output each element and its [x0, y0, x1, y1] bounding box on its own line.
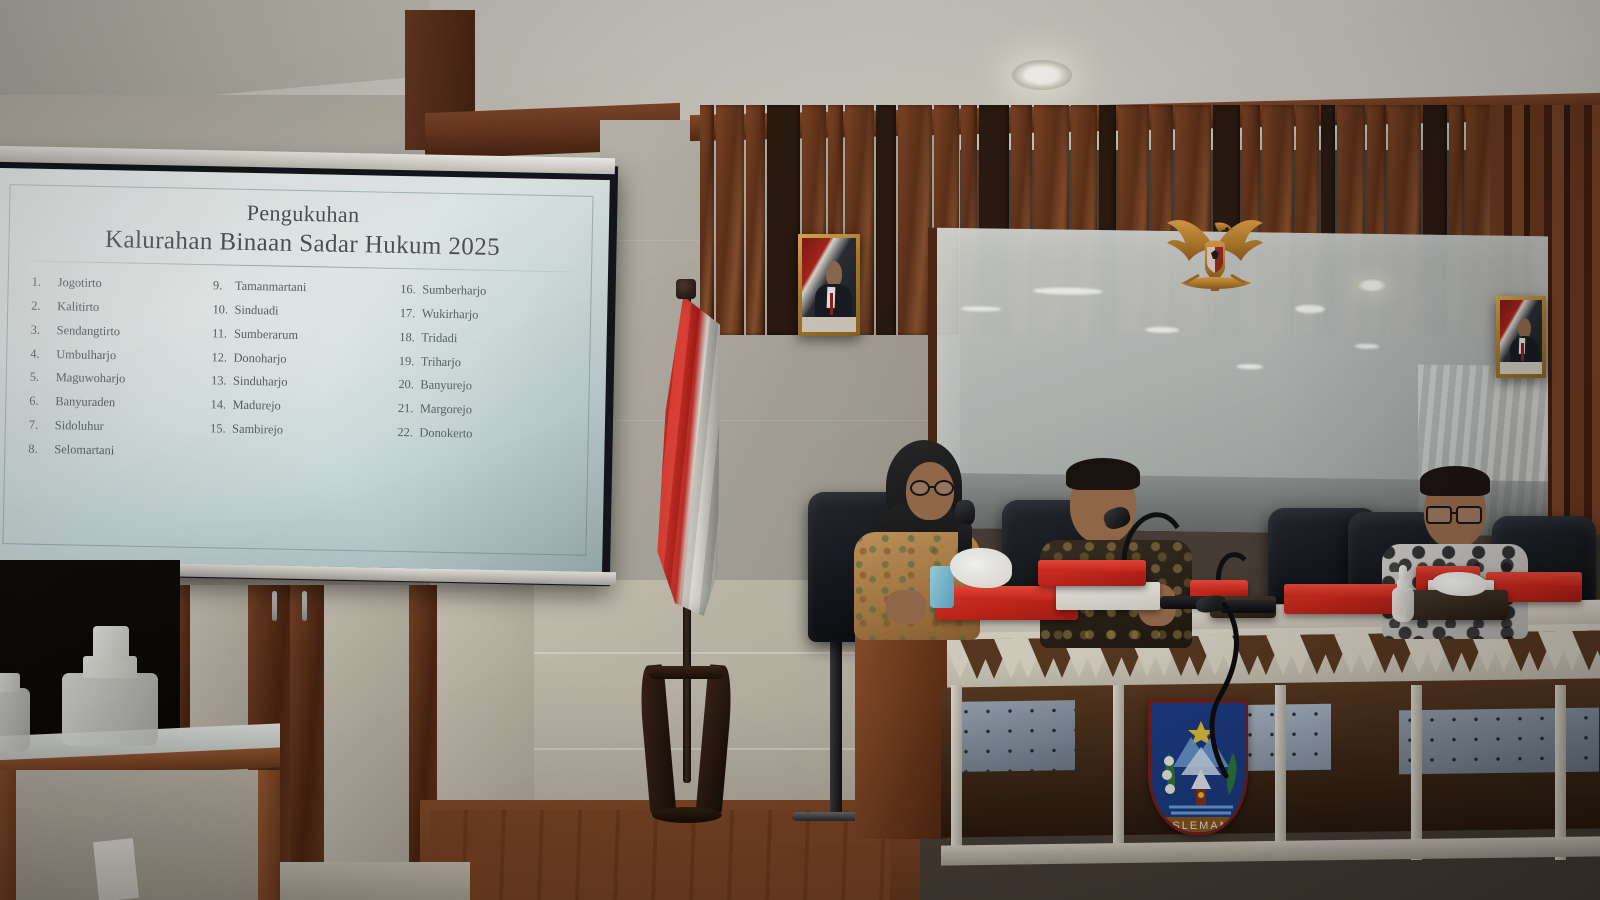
- eyeglasses-right-lens: [934, 480, 954, 496]
- slide-item-name: Madurejo: [232, 398, 280, 413]
- eyeglasses-bridge: [1451, 512, 1458, 514]
- slide-list-item: 12.Donoharjo: [211, 346, 389, 373]
- wood-slat: [898, 105, 932, 335]
- slide-list-item: 4.Umbulharjo: [24, 342, 202, 369]
- slide-title: Pengukuhan Kalurahan Binaan Sadar Hukum …: [26, 194, 579, 264]
- slide-item-name: Tamanmartani: [235, 279, 307, 294]
- slide-item-number: 21.: [398, 397, 420, 421]
- snack-box-white-1[interactable]: [1056, 582, 1160, 610]
- slide-item-number: 16.: [400, 278, 422, 302]
- slide-item-number: 22.: [397, 421, 419, 445]
- wood-slat: [746, 105, 765, 335]
- slide-list-item: 20.Banyurejo: [398, 373, 576, 400]
- slide-item-name: Donokerto: [419, 426, 472, 441]
- dais-side-panel: [855, 629, 947, 839]
- portrait-image-vice-president: [1500, 300, 1542, 374]
- slide-item-name: Donoharjo: [233, 350, 286, 365]
- hair: [1066, 458, 1140, 490]
- dais-leg-4: [1411, 685, 1422, 860]
- slide-item-name: Sendangtirto: [49, 323, 121, 338]
- slide-item-name: Sumberarum: [234, 327, 298, 342]
- slide-item-number: 12.: [211, 346, 233, 370]
- flag-stand-crossbar: [648, 666, 724, 679]
- ceiling-downlight: [1012, 60, 1072, 90]
- slide-column-2: 9.Tamanmartani10.Sinduadi11.Sumberarum12…: [209, 274, 390, 468]
- meeting-hall-photo: Pengukuhan Kalurahan Binaan Sadar Hukum …: [0, 0, 1600, 900]
- slide-item-name: Wukirharjo: [422, 306, 479, 321]
- slide-list-item: 16.Sumberharjo: [400, 278, 578, 305]
- slide-item-name: Margorejo: [420, 402, 472, 417]
- portrait-image-president: [802, 238, 856, 332]
- slide-item-name: Triharjo: [421, 354, 461, 369]
- door-leaf-right[interactable]: [290, 585, 324, 875]
- flag-stand: [640, 640, 732, 815]
- slide-list-item: 22.Donokerto: [397, 421, 575, 448]
- slide-list-item: 17.Wukirharjo: [400, 302, 578, 329]
- portrait-caption: [1500, 362, 1542, 374]
- slide-list-item: 9.Tamanmartani: [213, 274, 391, 301]
- slide-item-name: Maguwoharjo: [48, 370, 126, 386]
- slide-columns: 1.Jogotirto2.Kalitirto3.Sendangtirto4.Um…: [22, 271, 578, 473]
- hand-sanitizer-foreground[interactable]: [62, 628, 158, 746]
- eyeglasses-right-lens: [1456, 506, 1482, 524]
- dais-leg-2: [1113, 685, 1124, 860]
- stage-floor-planks: [430, 810, 890, 900]
- slide-item-number: 19.: [399, 350, 421, 374]
- portrait-caption: [802, 317, 856, 332]
- foreground-desk-frame-right: [258, 770, 280, 900]
- portrait-tie: [830, 293, 834, 316]
- slide-list-item: 10.Sinduadi: [212, 298, 390, 325]
- hand-sanitizer-right[interactable]: [1392, 566, 1414, 622]
- portrait-tie: [1521, 343, 1524, 361]
- vice-president-portrait: [1496, 296, 1546, 378]
- slide-item-number: 7.: [23, 414, 47, 438]
- hand-left: [886, 590, 926, 624]
- slide-item-name: Sumberharjo: [422, 283, 486, 298]
- reflected-downlight: [1356, 278, 1388, 293]
- foreground-desk: [0, 730, 280, 900]
- foreground-paper: [93, 838, 139, 900]
- slide-list-item: 15.Sambirejo: [210, 417, 388, 444]
- slide-list-item: 6.Banyuraden: [23, 390, 201, 417]
- slide-item-name: Jogotirto: [50, 275, 102, 290]
- slide-list-item: 19.Triharjo: [399, 350, 577, 377]
- portrait-head: [826, 261, 842, 287]
- slide-content: Pengukuhan Kalurahan Binaan Sadar Hukum …: [21, 194, 580, 549]
- shelf-perforated-panel-1: [955, 700, 1075, 772]
- slide-item-number: 17.: [400, 302, 422, 326]
- dais-leg-5: [1555, 685, 1566, 860]
- slide-list-item: 11.Sumberarum: [212, 322, 390, 349]
- foreground-desk-front: [0, 770, 280, 900]
- slide-list-item: 13.Sinduharjo: [211, 370, 389, 397]
- slide-item-name: Umbulharjo: [48, 347, 116, 362]
- slide-surface: Pengukuhan Kalurahan Binaan Sadar Hukum …: [0, 168, 610, 572]
- foreground-desk-frame-left: [0, 770, 16, 900]
- wood-slat: [876, 105, 896, 335]
- snack-box-red-4[interactable]: [1284, 584, 1404, 614]
- flag-stand-base: [652, 807, 722, 823]
- slide-list-item: 5.Maguwoharjo: [24, 366, 202, 393]
- slide-item-number: 1.: [25, 271, 49, 295]
- slide-item-number: 5.: [24, 366, 48, 390]
- slide-item-name: Tridadi: [421, 330, 457, 345]
- door-handle-right[interactable]: [302, 591, 307, 621]
- garuda-pancasila-emblem: [1155, 205, 1275, 305]
- slide-item-number: 2.: [25, 295, 49, 319]
- slide-item-number: 10.: [212, 298, 234, 322]
- slide-list-item: 3.Sendangtirto: [25, 318, 203, 345]
- president-portrait: [798, 234, 860, 336]
- hair: [1420, 466, 1490, 496]
- wall-panel-light-2: [324, 585, 409, 875]
- wood-slat: [700, 105, 714, 335]
- slide-item-name: Sinduadi: [234, 303, 278, 318]
- slide-list-item: 7.Sidoluhur: [23, 414, 201, 441]
- slide-item-number: 8.: [22, 437, 46, 461]
- slide-item-name: Sidoluhur: [47, 418, 104, 433]
- slide-list-item: 14.Madurejo: [210, 393, 388, 420]
- slide-item-number: 14.: [210, 393, 232, 417]
- slide-item-name: Sambirejo: [232, 422, 283, 437]
- slide-item-number: 9.: [213, 274, 235, 298]
- slide-list-item: 21.Margorejo: [398, 397, 576, 424]
- eyeglasses-left-lens: [1426, 506, 1452, 524]
- slide-item-number: 4.: [24, 342, 48, 366]
- wood-slat: [716, 105, 744, 335]
- slide-list-item: 1.Jogotirto: [25, 271, 203, 298]
- flag-finial: [676, 279, 696, 299]
- blue-bottle[interactable]: [930, 566, 954, 608]
- slide-list-item: 2.Kalitirto: [25, 295, 203, 322]
- eyeglasses-left-lens: [910, 480, 930, 496]
- slide-item-name: Kalitirto: [49, 299, 99, 314]
- handheld-microphone-head[interactable]: [955, 500, 975, 526]
- microphone-cable: [1180, 600, 1300, 780]
- slide-item-number: 15.: [210, 417, 232, 441]
- projector-screen: Pengukuhan Kalurahan Binaan Sadar Hukum …: [0, 154, 618, 587]
- bottle-foreground-partial[interactable]: [0, 648, 30, 752]
- slide-item-name: Selomartani: [46, 442, 114, 457]
- slide-item-number: 18.: [399, 326, 421, 350]
- slide-list-item: 18.Tridadi: [399, 326, 577, 353]
- flag-stand-arm-right: [696, 664, 735, 816]
- slide-item-number: 13.: [211, 370, 233, 394]
- slide-item-number: 11.: [212, 322, 234, 346]
- slide-item-name: Banyurejo: [420, 378, 472, 393]
- slide-item-number: 6.: [23, 390, 47, 414]
- shelf-perforated-panel-3: [1399, 708, 1599, 775]
- slide-item-number: 20.: [398, 373, 420, 397]
- dais-bottom-rail: [941, 836, 1600, 865]
- dais-leg-1: [951, 685, 962, 860]
- slide-item-number: 3.: [25, 318, 49, 342]
- eyeglasses-bridge: [929, 486, 936, 488]
- slide-item-name: Banyuraden: [47, 394, 115, 409]
- door-handle-left[interactable]: [272, 591, 277, 621]
- slide-column-1: 1.Jogotirto2.Kalitirto3.Sendangtirto4.Um…: [22, 271, 203, 465]
- slide-column-3: 16.Sumberharjo17.Wukirharjo18.Tridadi19.…: [397, 278, 578, 472]
- slide-item-name: Sinduharjo: [233, 374, 288, 389]
- wood-slat: [767, 105, 800, 335]
- slide-list-item: 8.Selomartani: [22, 437, 200, 464]
- flag-stand-arm-left: [638, 664, 677, 816]
- chair-left-post: [830, 636, 842, 816]
- snack-box-red-2[interactable]: [1038, 560, 1146, 586]
